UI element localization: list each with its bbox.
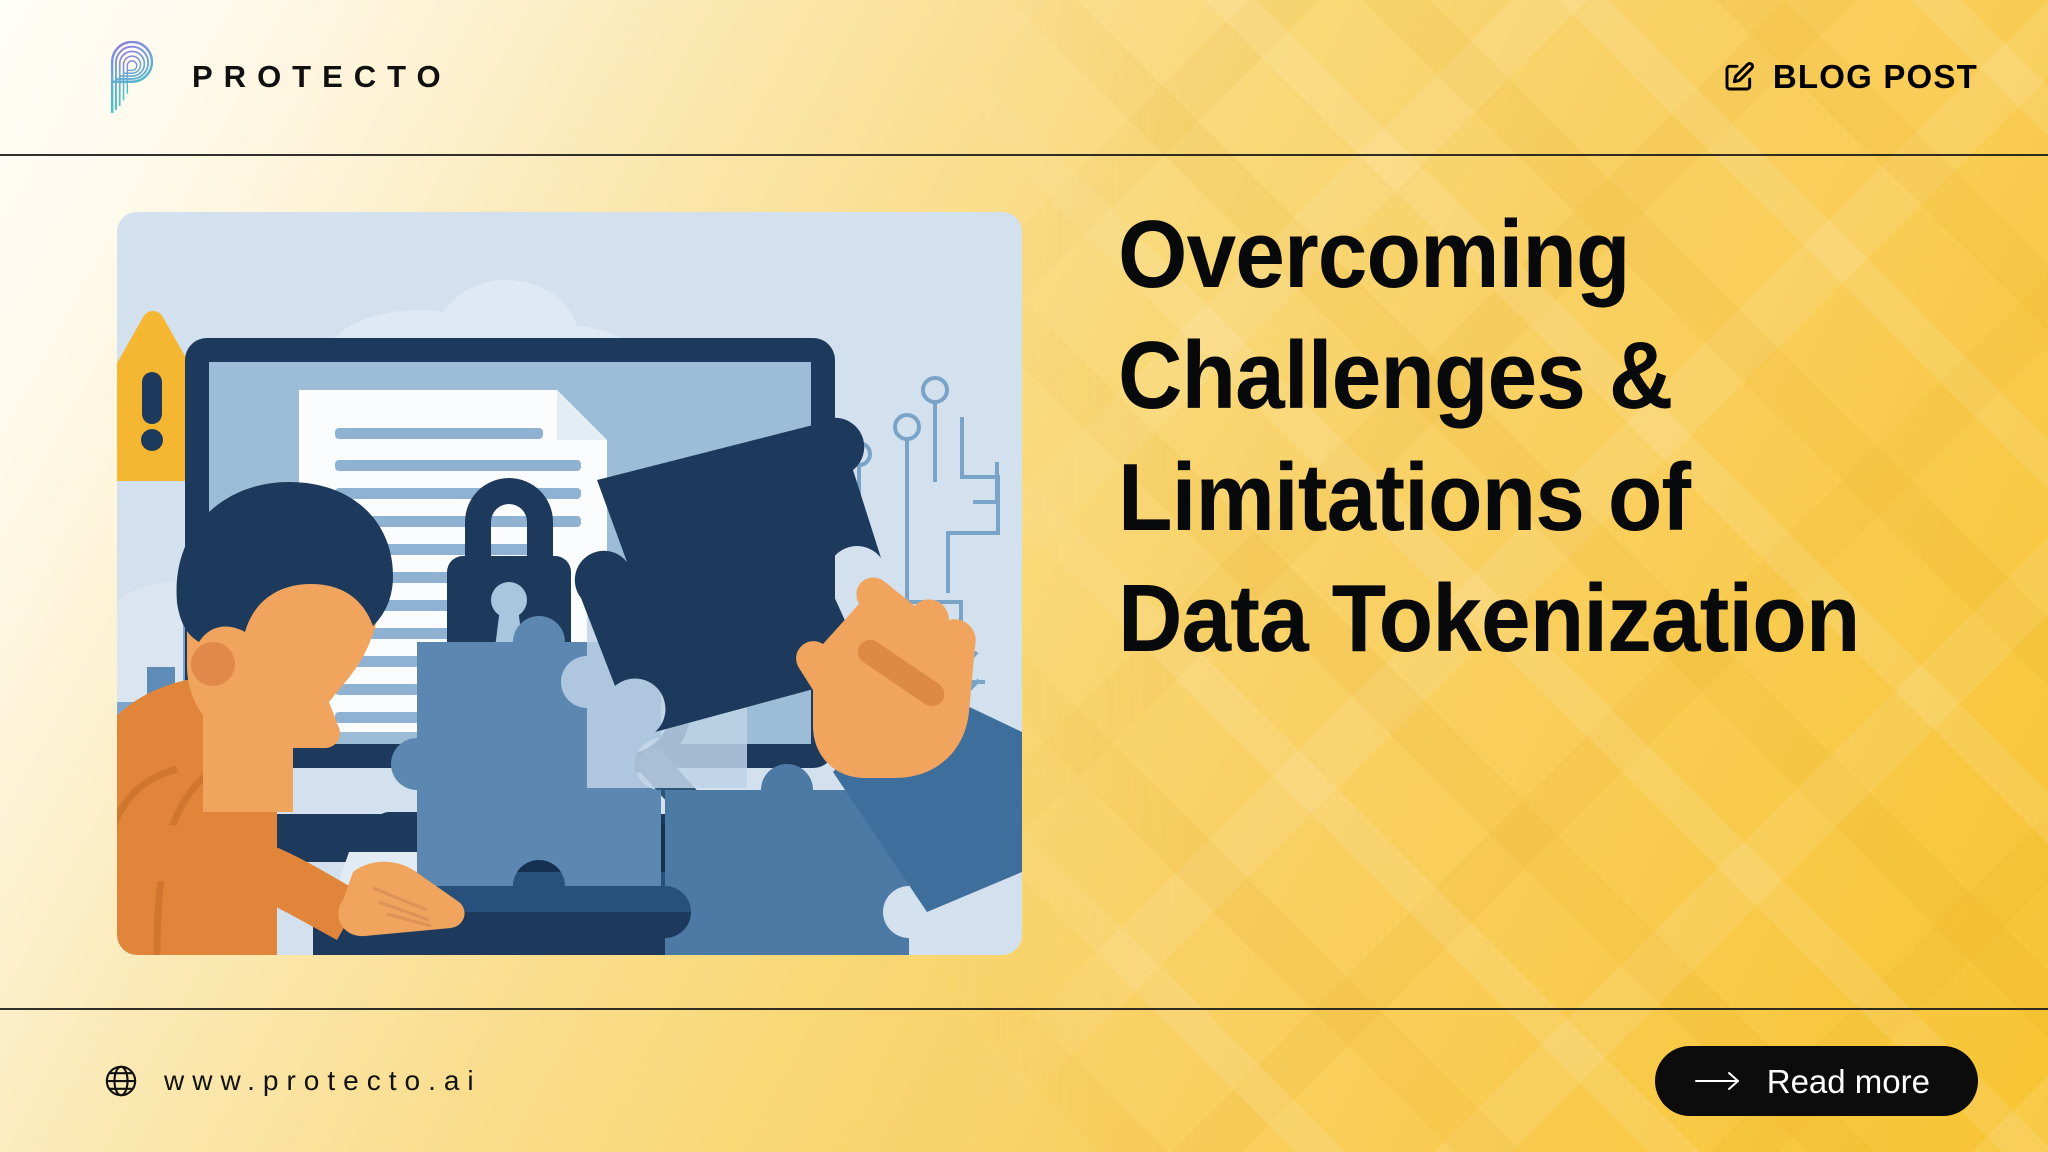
- website-link[interactable]: www.protecto.ai: [104, 1064, 482, 1098]
- header: PROTECTO BLOG POST: [0, 0, 2048, 154]
- brand-logo[interactable]: PROTECTO: [100, 41, 452, 113]
- illustration-panel: [117, 212, 1022, 955]
- arrow-right-icon: [1695, 1070, 1741, 1092]
- blog-post-badge-label: BLOG POST: [1773, 58, 1978, 96]
- website-url: www.protecto.ai: [164, 1065, 482, 1097]
- main-content: Overcoming Challenges & Limitations of D…: [0, 154, 2048, 1008]
- brand-name: PROTECTO: [192, 59, 452, 95]
- fingerprint-p-logo-icon: [100, 41, 166, 113]
- read-more-button[interactable]: Read more: [1655, 1046, 1978, 1116]
- data-tokenization-illustration: [117, 212, 1022, 955]
- blog-post-badge: BLOG POST: [1723, 58, 1978, 96]
- footer: www.protecto.ai Read more: [0, 1010, 2048, 1152]
- read-more-label: Read more: [1767, 1065, 1930, 1098]
- page-title: Overcoming Challenges & Limitations of D…: [1118, 194, 1862, 680]
- edit-square-icon: [1723, 61, 1755, 93]
- globe-icon: [104, 1064, 138, 1098]
